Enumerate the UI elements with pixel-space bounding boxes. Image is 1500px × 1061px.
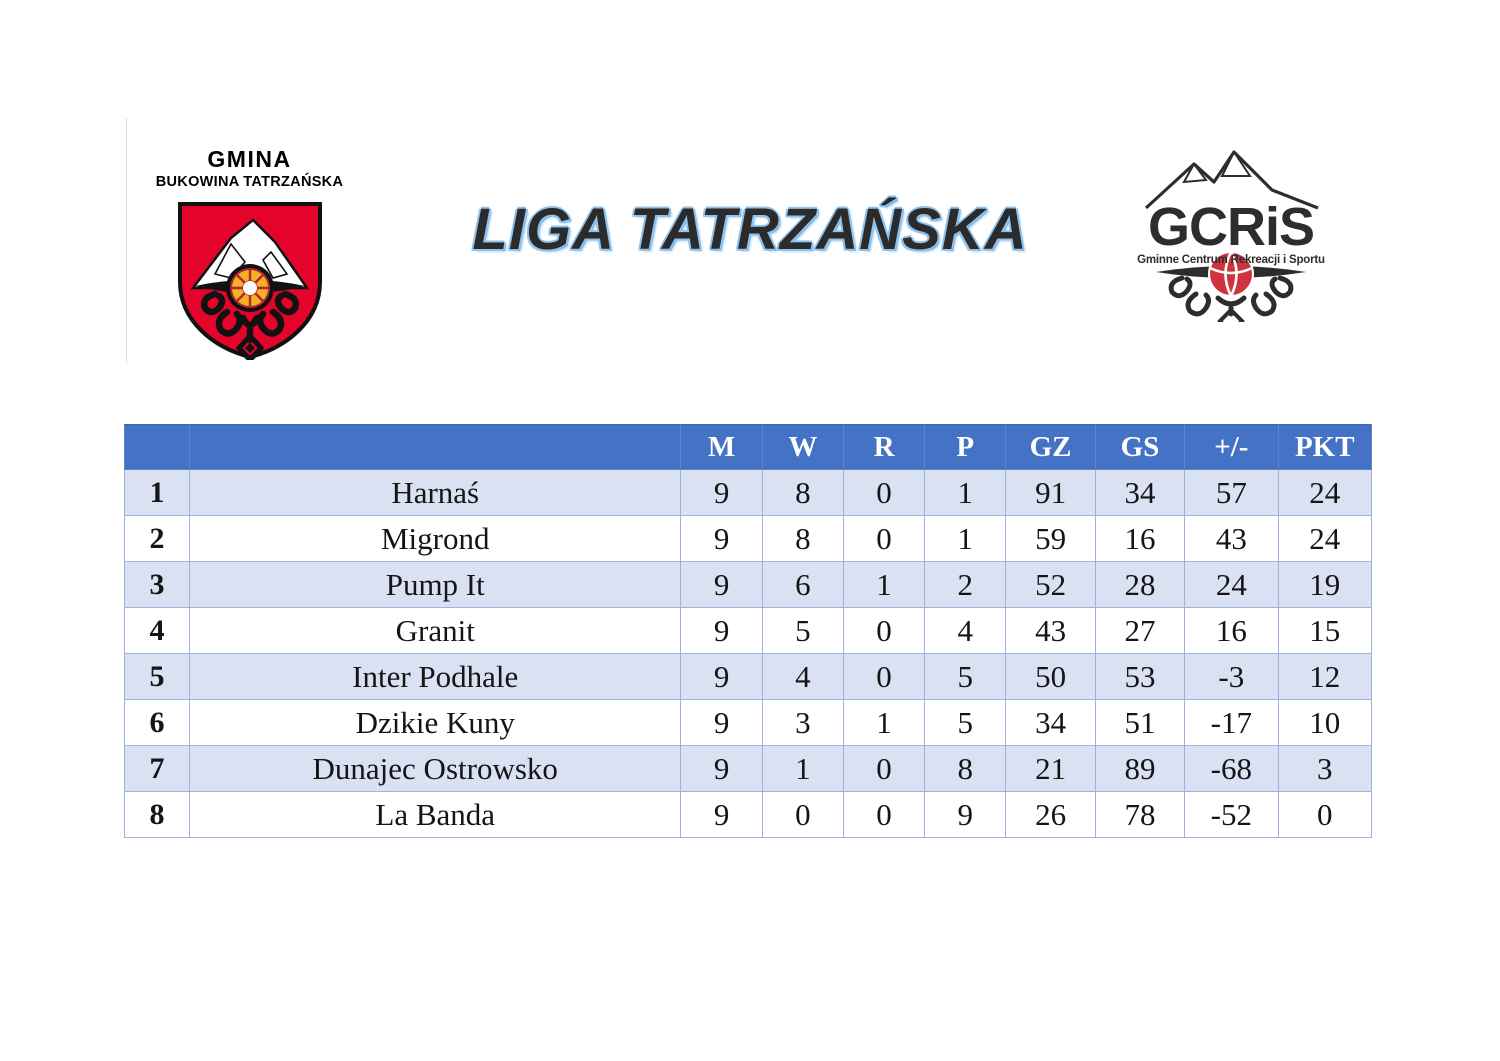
table-cell-wins: 6 bbox=[762, 562, 843, 608]
table-cell-rank: 2 bbox=[125, 516, 190, 562]
table-cell-goal-difference: -17 bbox=[1185, 700, 1278, 746]
column-header-draws: R bbox=[843, 425, 924, 470]
table-cell-points: 0 bbox=[1278, 792, 1371, 838]
table-cell-losses: 1 bbox=[925, 516, 1006, 562]
table-cell-matches: 9 bbox=[681, 516, 762, 562]
table-row: 8La Banda90092678-520 bbox=[125, 792, 1372, 838]
table-cell-points: 24 bbox=[1278, 470, 1371, 516]
column-header-rank bbox=[125, 425, 190, 470]
table-cell-goals-against: 53 bbox=[1095, 654, 1184, 700]
page-title: LIGA TATRZAŃSKA bbox=[440, 196, 1060, 263]
table-cell-goal-difference: 24 bbox=[1185, 562, 1278, 608]
table-cell-goal-difference: 43 bbox=[1185, 516, 1278, 562]
table-cell-losses: 5 bbox=[925, 700, 1006, 746]
table-cell-team: Inter Podhale bbox=[189, 654, 680, 700]
table-cell-goals-for: 43 bbox=[1006, 608, 1095, 654]
standings-table-container: M W R P GZ GS +/- PKT 1Harnaś98019134572… bbox=[124, 424, 1372, 838]
table-cell-rank: 4 bbox=[125, 608, 190, 654]
table-cell-rank: 3 bbox=[125, 562, 190, 608]
table-cell-goal-difference: 16 bbox=[1185, 608, 1278, 654]
gmina-bukowina-tatrzanska-logo: GMINA BUKOWINA TATRZAŃSKA bbox=[126, 118, 372, 363]
table-cell-rank: 7 bbox=[125, 746, 190, 792]
table-row: 1Harnaś980191345724 bbox=[125, 470, 1372, 516]
table-cell-wins: 5 bbox=[762, 608, 843, 654]
table-cell-wins: 4 bbox=[762, 654, 843, 700]
table-cell-points: 19 bbox=[1278, 562, 1371, 608]
table-cell-losses: 1 bbox=[925, 470, 1006, 516]
table-cell-draws: 0 bbox=[843, 470, 924, 516]
table-cell-team: La Banda bbox=[189, 792, 680, 838]
table-cell-rank: 1 bbox=[125, 470, 190, 516]
table-cell-draws: 0 bbox=[843, 654, 924, 700]
table-cell-matches: 9 bbox=[681, 654, 762, 700]
table-cell-points: 10 bbox=[1278, 700, 1371, 746]
table-cell-goals-against: 51 bbox=[1095, 700, 1184, 746]
table-cell-goals-for: 59 bbox=[1006, 516, 1095, 562]
table-cell-team: Dunajec Ostrowsko bbox=[189, 746, 680, 792]
table-cell-points: 24 bbox=[1278, 516, 1371, 562]
table-cell-rank: 6 bbox=[125, 700, 190, 746]
table-cell-draws: 1 bbox=[843, 562, 924, 608]
gcris-subtitle: Gminne Centrum Rekreacji i Sportu bbox=[1122, 254, 1340, 266]
table-cell-goals-against: 16 bbox=[1095, 516, 1184, 562]
table-header-row: M W R P GZ GS +/- PKT bbox=[125, 425, 1372, 470]
table-cell-matches: 9 bbox=[681, 608, 762, 654]
table-cell-draws: 0 bbox=[843, 516, 924, 562]
table-cell-goals-against: 27 bbox=[1095, 608, 1184, 654]
table-cell-wins: 8 bbox=[762, 516, 843, 562]
table-cell-wins: 0 bbox=[762, 792, 843, 838]
table-cell-losses: 2 bbox=[925, 562, 1006, 608]
page-header: GMINA BUKOWINA TATRZAŃSKA bbox=[0, 0, 1500, 400]
table-cell-goal-difference: -3 bbox=[1185, 654, 1278, 700]
table-cell-goal-difference: -68 bbox=[1185, 746, 1278, 792]
table-cell-matches: 9 bbox=[681, 700, 762, 746]
table-cell-goal-difference: 57 bbox=[1185, 470, 1278, 516]
gmina-logo-line2: BUKOWINA TATRZAŃSKA bbox=[127, 174, 372, 190]
table-cell-points: 12 bbox=[1278, 654, 1371, 700]
table-cell-draws: 0 bbox=[843, 608, 924, 654]
table-cell-losses: 4 bbox=[925, 608, 1006, 654]
table-row: 6Dzikie Kuny93153451-1710 bbox=[125, 700, 1372, 746]
table-cell-matches: 9 bbox=[681, 746, 762, 792]
table-row: 5Inter Podhale94055053-312 bbox=[125, 654, 1372, 700]
gmina-logo-line1: GMINA bbox=[127, 146, 372, 173]
column-header-matches: M bbox=[681, 425, 762, 470]
table-row: 2Migrond980159164324 bbox=[125, 516, 1372, 562]
table-cell-losses: 5 bbox=[925, 654, 1006, 700]
table-cell-goals-for: 50 bbox=[1006, 654, 1095, 700]
table-cell-team: Dzikie Kuny bbox=[189, 700, 680, 746]
table-cell-goals-for: 91 bbox=[1006, 470, 1095, 516]
column-header-goals-against: GS bbox=[1095, 425, 1184, 470]
table-row: 4Granit950443271615 bbox=[125, 608, 1372, 654]
table-cell-goals-against: 78 bbox=[1095, 792, 1184, 838]
table-cell-matches: 9 bbox=[681, 562, 762, 608]
table-cell-goals-for: 34 bbox=[1006, 700, 1095, 746]
column-header-team bbox=[189, 425, 680, 470]
column-header-goals-for: GZ bbox=[1006, 425, 1095, 470]
table-cell-goals-against: 34 bbox=[1095, 470, 1184, 516]
gcris-logo: GCRiS Gminne Centrum Rekreacji i Sportu bbox=[1122, 142, 1340, 322]
table-cell-draws: 0 bbox=[843, 792, 924, 838]
table-cell-draws: 1 bbox=[843, 700, 924, 746]
table-cell-team: Pump It bbox=[189, 562, 680, 608]
table-cell-matches: 9 bbox=[681, 792, 762, 838]
table-cell-goals-for: 26 bbox=[1006, 792, 1095, 838]
gcris-acronym: GCRiS bbox=[1122, 200, 1340, 254]
table-cell-draws: 0 bbox=[843, 746, 924, 792]
table-cell-points: 15 bbox=[1278, 608, 1371, 654]
table-cell-losses: 9 bbox=[925, 792, 1006, 838]
column-header-losses: P bbox=[925, 425, 1006, 470]
standings-table: M W R P GZ GS +/- PKT 1Harnaś98019134572… bbox=[124, 424, 1372, 838]
table-cell-team: Harnaś bbox=[189, 470, 680, 516]
gmina-shield-icon bbox=[175, 200, 325, 360]
table-cell-goals-for: 21 bbox=[1006, 746, 1095, 792]
table-cell-goals-against: 28 bbox=[1095, 562, 1184, 608]
table-cell-goals-for: 52 bbox=[1006, 562, 1095, 608]
table-cell-rank: 8 bbox=[125, 792, 190, 838]
table-row: 7Dunajec Ostrowsko91082189-683 bbox=[125, 746, 1372, 792]
table-cell-team: Migrond bbox=[189, 516, 680, 562]
table-cell-losses: 8 bbox=[925, 746, 1006, 792]
table-row: 3Pump It961252282419 bbox=[125, 562, 1372, 608]
column-header-goal-difference: +/- bbox=[1185, 425, 1278, 470]
table-cell-wins: 8 bbox=[762, 470, 843, 516]
table-cell-wins: 3 bbox=[762, 700, 843, 746]
table-cell-matches: 9 bbox=[681, 470, 762, 516]
table-cell-team: Granit bbox=[189, 608, 680, 654]
column-header-points: PKT bbox=[1278, 425, 1371, 470]
table-cell-wins: 1 bbox=[762, 746, 843, 792]
table-cell-points: 3 bbox=[1278, 746, 1371, 792]
table-cell-goals-against: 89 bbox=[1095, 746, 1184, 792]
table-cell-rank: 5 bbox=[125, 654, 190, 700]
table-cell-goal-difference: -52 bbox=[1185, 792, 1278, 838]
column-header-wins: W bbox=[762, 425, 843, 470]
